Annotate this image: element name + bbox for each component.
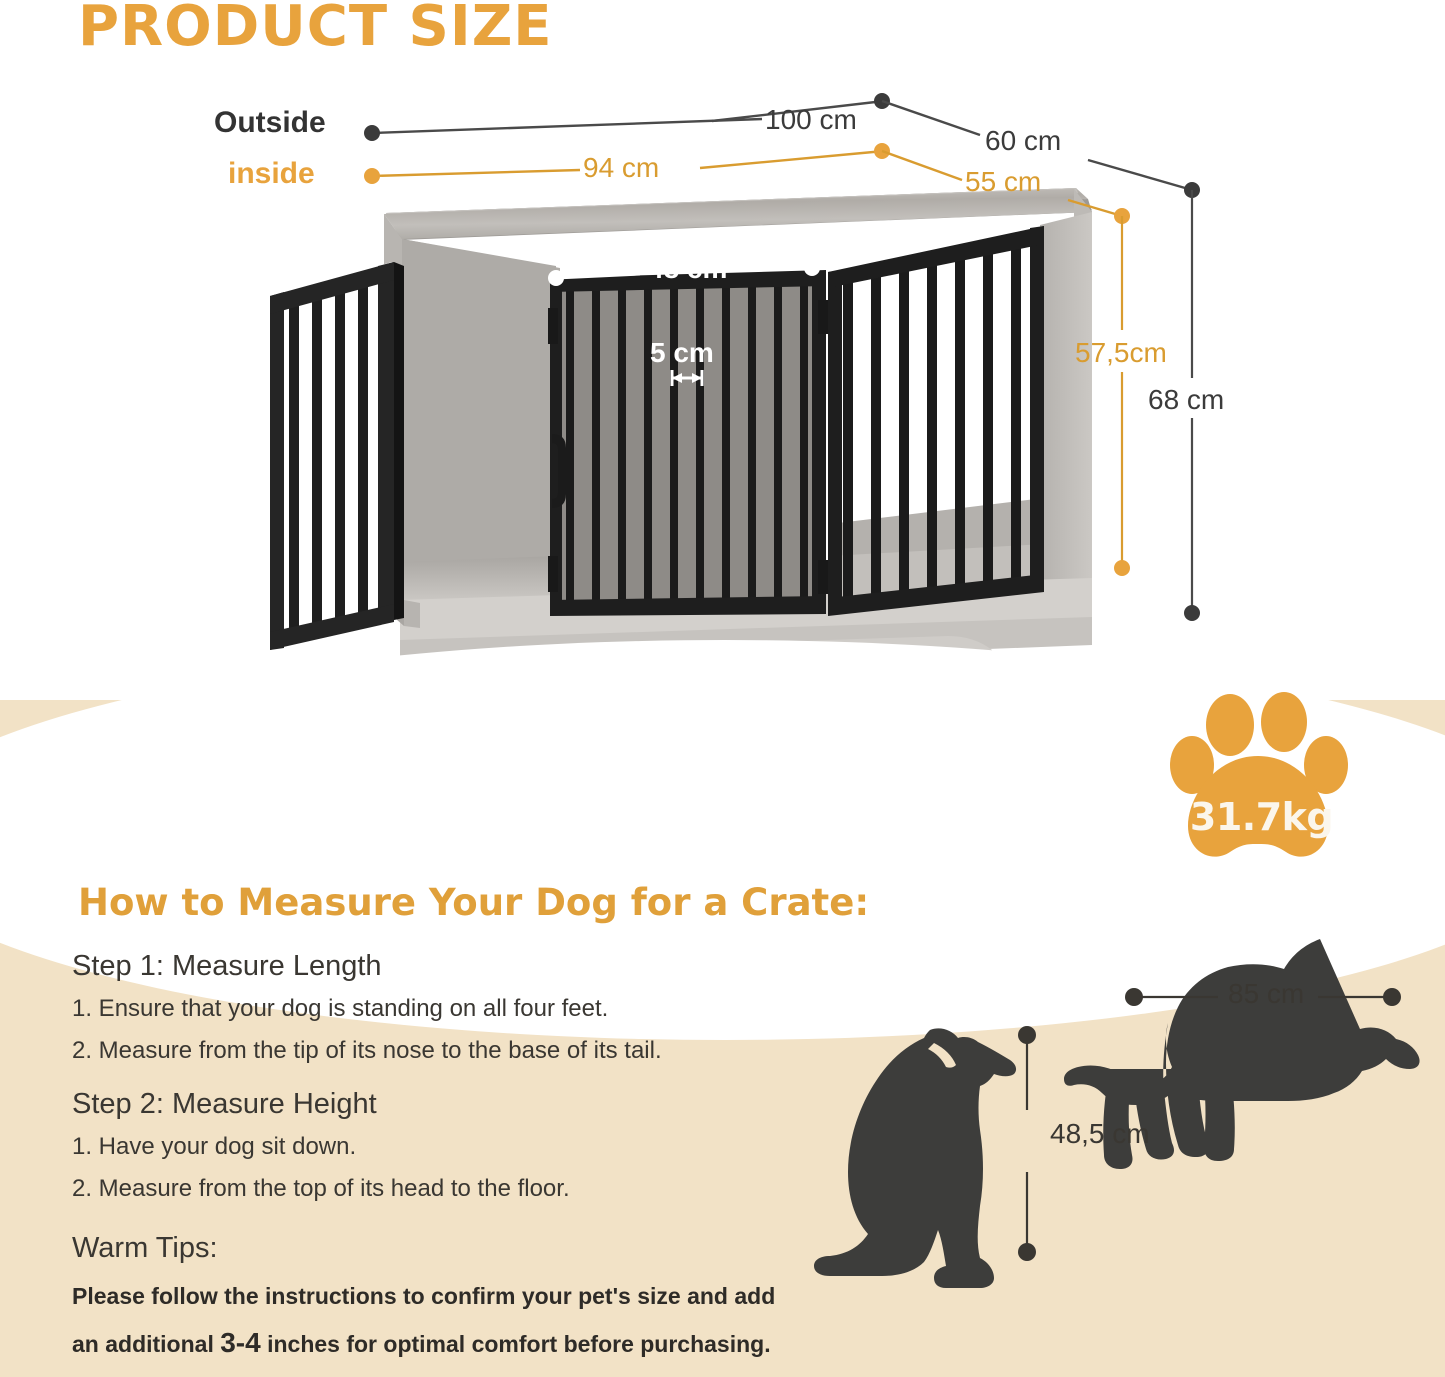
tips-line2-suffix: inches for optimal comfort before purcha… [261,1331,771,1357]
tips-line-2: an additional 3-4 inches for optimal com… [72,1327,771,1359]
crate-front-door [548,270,828,616]
paw-print-icon [1168,680,1358,870]
dim-outside-height: 68 cm [1148,384,1224,416]
dim-bar-spacing: 5 cm [650,337,714,369]
dim-outside-depth: 60 cm [985,125,1061,157]
dim-dog-height: 48,5 cm [1050,1118,1150,1150]
leader-bar-spacing [672,370,702,386]
step2-title: Step 2: Measure Height [72,1088,377,1121]
step2-line2: 2. Measure from the top of its head to t… [72,1175,570,1203]
tips-title: Warm Tips: [72,1232,218,1265]
step1-line1: 1. Ensure that your dog is standing on a… [72,995,608,1023]
dim-dog-length: 85 cm [1228,978,1304,1010]
dim-outside-width: 100 cm [765,104,857,136]
weight-badge-value: 31.7kg [1189,795,1334,839]
tips-line2-prefix: an additional [72,1331,220,1357]
product-size-infographic: PRODUCT SIZE [0,0,1445,1377]
dim-inside-width: 94 cm [583,152,659,184]
tips-inches-value: 3-4 [220,1327,260,1358]
leader-inside-height [1114,216,1130,576]
legend-outside-label: Outside [214,106,326,140]
guide-heading: How to Measure Your Dog for a Crate: [78,881,869,924]
legend-inside-label: inside [228,157,315,191]
step1-title: Step 1: Measure Length [72,950,382,983]
step1-line2: 2. Measure from the tip of its nose to t… [72,1037,662,1065]
page-title: PRODUCT SIZE [78,0,553,59]
dim-inside-depth: 55 cm [965,166,1041,198]
dim-door-width: 48 cm [648,253,727,285]
crate-right-bars [828,226,1044,616]
tips-line-1: Please follow the instructions to confir… [72,1283,775,1310]
crate-open-door [270,262,404,650]
step2-line1: 1. Have your dog sit down. [72,1133,356,1161]
dim-inside-height: 57,5cm [1075,337,1167,369]
